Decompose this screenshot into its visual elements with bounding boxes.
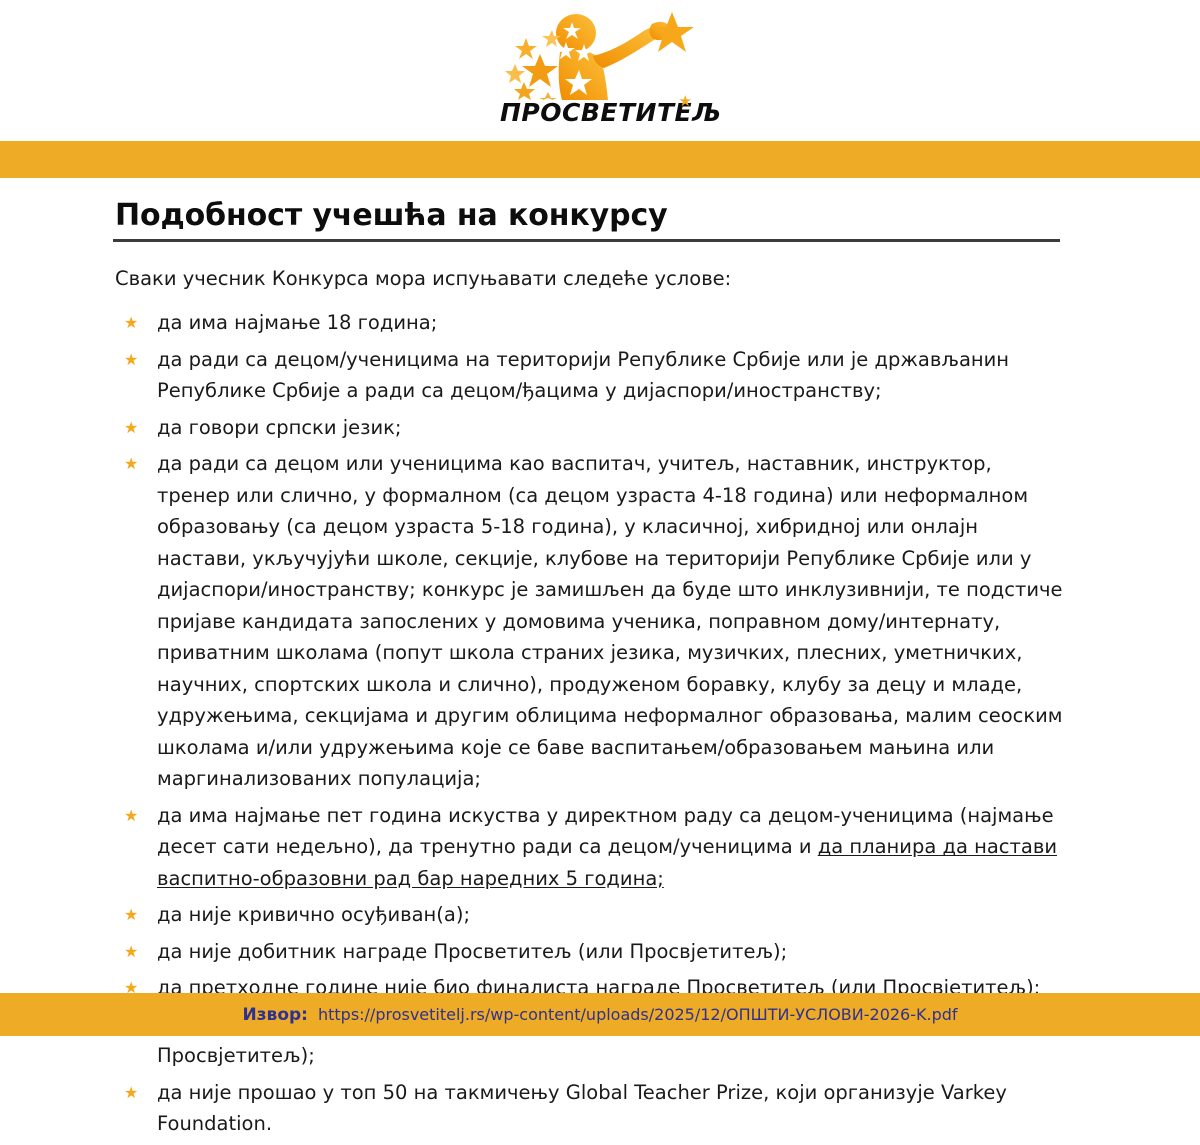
list-item: ★ да говори српски језик; [113, 412, 1063, 444]
star-bullet-icon: ★ [124, 1077, 138, 1109]
star-bullet-icon: ★ [124, 412, 138, 444]
list-item-text: да говори српски језик; [157, 416, 402, 439]
list-item-text: да има најмање 18 година; [157, 311, 437, 334]
intro-paragraph: Сваки учесник Конкурса мора испуњавати с… [115, 264, 1063, 293]
star-bullet-icon: ★ [124, 448, 138, 480]
list-item: ★ да није кривично осуђиван(а); [113, 899, 1063, 931]
list-item: ★ да ради са децом или ученицима као вас… [113, 448, 1063, 795]
list-item: ★ да има најмање пет година искуства у д… [113, 800, 1063, 895]
list-item: ★ да није прошао у топ 50 на такмичењу G… [113, 1077, 1063, 1140]
source-url[interactable]: https://prosvetitelj.rs/wp-content/uploa… [318, 1005, 958, 1024]
star-bullet-icon: ★ [124, 800, 138, 832]
child-reaching-star-icon [500, 8, 700, 100]
star-bullet-icon: ★ [124, 307, 138, 339]
brand-header: ПРОСВЕТИТЕЉ ★ [0, 0, 1200, 141]
list-item-text: да није кривично осуђиван(а); [157, 903, 470, 926]
list-item-text: да ради са децом или ученицима као васпи… [157, 452, 1063, 790]
list-item: ★ да има најмање 18 година; [113, 307, 1063, 339]
header-accent-band [0, 141, 1200, 178]
list-item-text: да није прошао у топ 50 на такмичењу Glo… [157, 1081, 1007, 1136]
source-label: Извор: [242, 1005, 308, 1025]
star-bullet-icon: ★ [124, 899, 138, 931]
logo: ПРОСВЕТИТЕЉ ★ [500, 6, 700, 136]
star-bullet-icon: ★ [124, 936, 138, 968]
footer-source-band: Извор: https://prosvetitelj.rs/wp-conten… [0, 993, 1200, 1036]
page-title: Подобност учешћа на конкурсу [113, 198, 1063, 239]
list-item: ★ да није добитник награде Просветитељ (… [113, 936, 1063, 968]
star-icon: ★ [679, 94, 692, 109]
list-item-text: да није добитник награде Просветитељ (ил… [157, 940, 787, 963]
title-divider [113, 239, 1060, 242]
star-bullet-icon: ★ [124, 344, 138, 376]
list-item: ★ да ради са децом/ученицима на територи… [113, 344, 1063, 407]
logo-wordmark: ПРОСВЕТИТЕЉ [500, 98, 700, 127]
list-item-text: да ради са децом/ученицима на територији… [157, 348, 1009, 403]
